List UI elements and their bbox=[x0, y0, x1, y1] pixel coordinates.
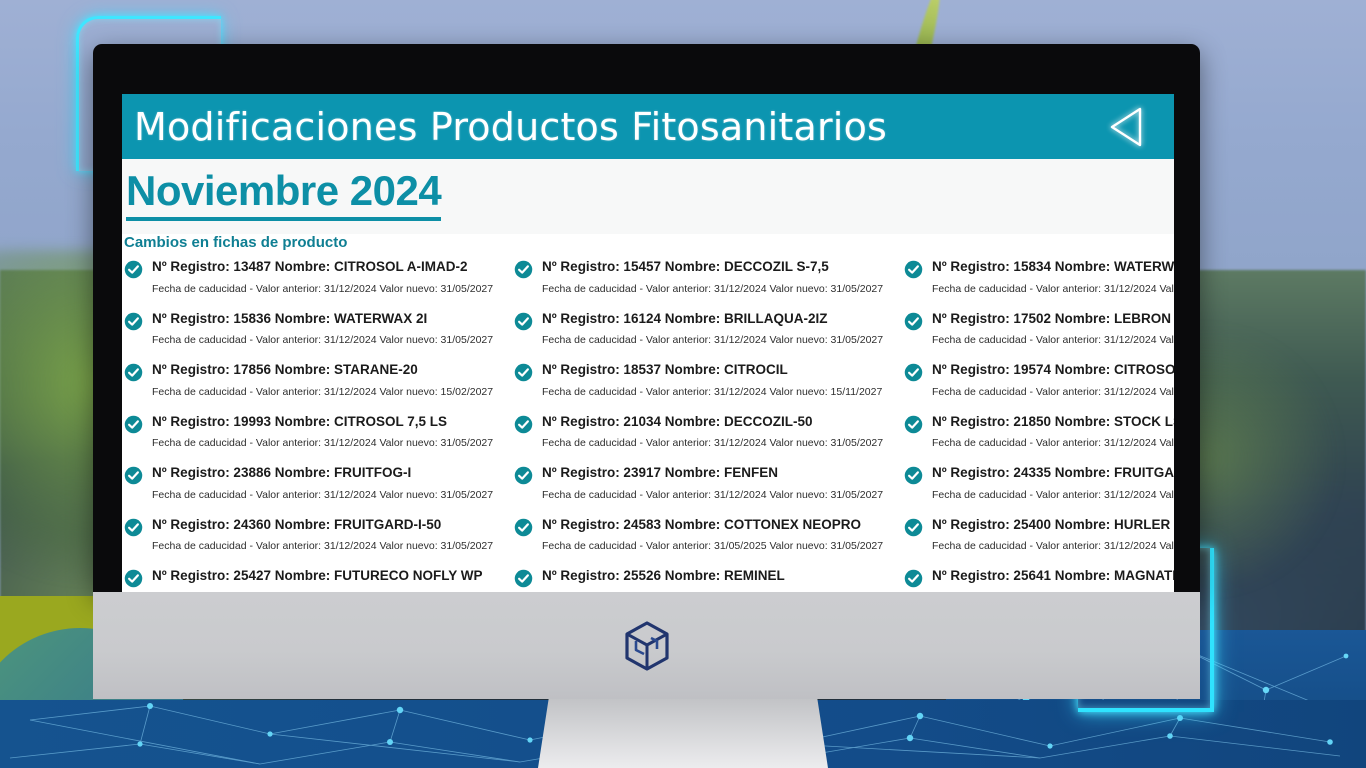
entry-text: Nº Registro: 23886 Nombre: FRUITFOG-IFec… bbox=[152, 465, 493, 501]
entry-title: Nº Registro: 24360 Nombre: FRUITGARD-I-5… bbox=[152, 517, 493, 534]
entry-detail: Fecha de caducidad - Valor anterior: 31/… bbox=[542, 540, 883, 553]
product-change-entry: Nº Registro: 17856 Nombre: STARANE-20Fec… bbox=[124, 360, 514, 412]
entry-detail: Fecha de caducidad - Valor anterior: 31/… bbox=[932, 437, 1174, 450]
entry-detail: Fecha de caducidad - Valor anterior: 31/… bbox=[542, 386, 882, 399]
check-circle-icon bbox=[904, 415, 923, 434]
entry-detail: Fecha de caducidad - Valor anterior: 31/… bbox=[152, 334, 493, 347]
entry-text: Nº Registro: 21850 Nombre: STOCK LSFecha… bbox=[932, 414, 1174, 450]
monitor-bezel: Modificaciones Productos Fitosanitarios … bbox=[93, 44, 1200, 592]
entry-text: Nº Registro: 15834 Nombre: WATERWAX 3IFe… bbox=[932, 259, 1174, 295]
product-change-entry: Nº Registro: 18537 Nombre: CITROCILFecha… bbox=[514, 360, 904, 412]
slide-body: Noviembre 2024 Cambios en fichas de prod… bbox=[122, 159, 1174, 624]
entry-title: Nº Registro: 24335 Nombre: FRUITGARD-IS-… bbox=[932, 465, 1174, 482]
entry-detail: Fecha de caducidad - Valor anterior: 31/… bbox=[932, 283, 1174, 296]
product-change-entry: Nº Registro: 24583 Nombre: COTTONEX NEOP… bbox=[514, 515, 904, 567]
entry-title: Nº Registro: 25427 Nombre: FUTURECO NOFL… bbox=[152, 568, 493, 585]
check-circle-icon bbox=[904, 518, 923, 537]
entry-detail: Fecha de caducidad - Valor anterior: 31/… bbox=[932, 386, 1174, 399]
check-circle-icon bbox=[514, 363, 533, 382]
entry-detail: Fecha de caducidad - Valor anterior: 31/… bbox=[542, 437, 883, 450]
entry-text: Nº Registro: 17502 Nombre: LEBRONFecha d… bbox=[932, 311, 1174, 347]
entry-detail: Fecha de caducidad - Valor anterior: 31/… bbox=[542, 489, 883, 502]
entry-detail: Fecha de caducidad - Valor anterior: 31/… bbox=[152, 437, 493, 450]
entry-text: Nº Registro: 18537 Nombre: CITROCILFecha… bbox=[542, 362, 882, 398]
entry-title: Nº Registro: 25400 Nombre: HURLER 200 bbox=[932, 517, 1174, 534]
entry-title: Nº Registro: 15834 Nombre: WATERWAX 3I bbox=[932, 259, 1174, 276]
product-change-entry: Nº Registro: 23886 Nombre: FRUITFOG-IFec… bbox=[124, 463, 514, 515]
slide-screen: Modificaciones Productos Fitosanitarios … bbox=[122, 94, 1174, 624]
product-change-entry: Nº Registro: 19993 Nombre: CITROSOL 7,5 … bbox=[124, 412, 514, 464]
entry-detail: Fecha de caducidad - Valor anterior: 31/… bbox=[542, 283, 883, 296]
check-circle-icon bbox=[514, 466, 533, 485]
entry-title: Nº Registro: 18537 Nombre: CITROCIL bbox=[542, 362, 882, 379]
entry-text: Nº Registro: 13487 Nombre: CITROSOL A-IM… bbox=[152, 259, 493, 295]
entry-title: Nº Registro: 15836 Nombre: WATERWAX 2I bbox=[152, 311, 493, 328]
product-change-entry: Nº Registro: 21034 Nombre: DECCOZIL-50Fe… bbox=[514, 412, 904, 464]
product-change-entry: Nº Registro: 23917 Nombre: FENFENFecha d… bbox=[514, 463, 904, 515]
product-change-entry: Nº Registro: 19574 Nombre: CITROSOL 500F… bbox=[904, 360, 1174, 412]
slide-header: Modificaciones Productos Fitosanitarios bbox=[122, 94, 1174, 159]
product-changes-grid: Nº Registro: 13487 Nombre: CITROSOL A-IM… bbox=[122, 257, 1174, 618]
product-change-entry: Nº Registro: 15836 Nombre: WATERWAX 2IFe… bbox=[124, 309, 514, 361]
product-change-entry: Nº Registro: 15834 Nombre: WATERWAX 3IFe… bbox=[904, 257, 1174, 309]
entry-text: Nº Registro: 15457 Nombre: DECCOZIL S-7,… bbox=[542, 259, 883, 295]
product-change-entry: Nº Registro: 24360 Nombre: FRUITGARD-I-5… bbox=[124, 515, 514, 567]
entry-text: Nº Registro: 24335 Nombre: FRUITGARD-IS-… bbox=[932, 465, 1174, 501]
entry-text: Nº Registro: 15836 Nombre: WATERWAX 2IFe… bbox=[152, 311, 493, 347]
entry-title: Nº Registro: 25641 Nombre: MAGNATE bbox=[932, 568, 1174, 585]
entry-text: Nº Registro: 17856 Nombre: STARANE-20Fec… bbox=[152, 362, 493, 398]
product-change-entry: Nº Registro: 17502 Nombre: LEBRONFecha d… bbox=[904, 309, 1174, 361]
check-circle-icon bbox=[904, 466, 923, 485]
entry-title: Nº Registro: 19993 Nombre: CITROSOL 7,5 … bbox=[152, 414, 493, 431]
monitor-chin bbox=[93, 592, 1200, 699]
check-circle-icon bbox=[124, 260, 143, 279]
entry-text: Nº Registro: 25400 Nombre: HURLER 200Fec… bbox=[932, 517, 1174, 553]
check-circle-icon bbox=[124, 312, 143, 331]
entry-detail: Fecha de caducidad - Valor anterior: 31/… bbox=[542, 334, 883, 347]
entry-text: Nº Registro: 23917 Nombre: FENFENFecha d… bbox=[542, 465, 883, 501]
entry-title: Nº Registro: 23917 Nombre: FENFEN bbox=[542, 465, 883, 482]
check-circle-icon bbox=[124, 363, 143, 382]
entry-text: Nº Registro: 19574 Nombre: CITROSOL 500F… bbox=[932, 362, 1174, 398]
check-circle-icon bbox=[904, 260, 923, 279]
entry-detail: Fecha de caducidad - Valor anterior: 31/… bbox=[932, 334, 1174, 347]
product-change-entry: Nº Registro: 13487 Nombre: CITROSOL A-IM… bbox=[124, 257, 514, 309]
check-circle-icon bbox=[904, 312, 923, 331]
entry-detail: Fecha de caducidad - Valor anterior: 31/… bbox=[932, 489, 1174, 502]
entry-text: Nº Registro: 16124 Nombre: BRILLAQUA-2IZ… bbox=[542, 311, 883, 347]
entry-detail: Fecha de caducidad - Valor anterior: 31/… bbox=[152, 540, 493, 553]
entry-detail: Fecha de caducidad - Valor anterior: 31/… bbox=[152, 386, 493, 399]
entry-text: Nº Registro: 24583 Nombre: COTTONEX NEOP… bbox=[542, 517, 883, 553]
entry-title: Nº Registro: 24583 Nombre: COTTONEX NEOP… bbox=[542, 517, 883, 534]
product-change-entry: Nº Registro: 15457 Nombre: DECCOZIL S-7,… bbox=[514, 257, 904, 309]
month-title: Noviembre 2024 bbox=[126, 169, 441, 221]
page-title: Modificaciones Productos Fitosanitarios bbox=[134, 105, 887, 149]
entry-title: Nº Registro: 25526 Nombre: REMINEL bbox=[542, 568, 883, 585]
check-circle-icon bbox=[514, 415, 533, 434]
entry-title: Nº Registro: 21850 Nombre: STOCK LS bbox=[932, 414, 1174, 431]
entry-title: Nº Registro: 13487 Nombre: CITROSOL A-IM… bbox=[152, 259, 493, 276]
monitor: Modificaciones Productos Fitosanitarios … bbox=[93, 44, 1200, 699]
product-change-entry: Nº Registro: 21850 Nombre: STOCK LSFecha… bbox=[904, 412, 1174, 464]
section-title: Cambios en fichas de producto bbox=[124, 234, 1174, 251]
check-circle-icon bbox=[514, 260, 533, 279]
entry-title: Nº Registro: 23886 Nombre: FRUITFOG-I bbox=[152, 465, 493, 482]
entry-title: Nº Registro: 17502 Nombre: LEBRON bbox=[932, 311, 1174, 328]
entry-title: Nº Registro: 21034 Nombre: DECCOZIL-50 bbox=[542, 414, 883, 431]
check-circle-icon bbox=[904, 569, 923, 588]
play-back-triangle-icon[interactable] bbox=[1102, 102, 1158, 152]
check-circle-icon bbox=[124, 415, 143, 434]
check-circle-icon bbox=[514, 518, 533, 537]
entry-detail: Fecha de caducidad - Valor anterior: 31/… bbox=[152, 283, 493, 296]
entry-text: Nº Registro: 21034 Nombre: DECCOZIL-50Fe… bbox=[542, 414, 883, 450]
check-circle-icon bbox=[514, 569, 533, 588]
product-change-entry: Nº Registro: 24335 Nombre: FRUITGARD-IS-… bbox=[904, 463, 1174, 515]
entry-title: Nº Registro: 19574 Nombre: CITROSOL 500 bbox=[932, 362, 1174, 379]
entry-detail: Fecha de caducidad - Valor anterior: 31/… bbox=[152, 489, 493, 502]
check-circle-icon bbox=[514, 312, 533, 331]
entry-title: Nº Registro: 17856 Nombre: STARANE-20 bbox=[152, 362, 493, 379]
hexagon-cube-logo-icon bbox=[624, 621, 670, 671]
check-circle-icon bbox=[124, 466, 143, 485]
slide-stage: Modificaciones Productos Fitosanitarios … bbox=[0, 0, 1366, 768]
entry-detail: Fecha de caducidad - Valor anterior: 31/… bbox=[932, 540, 1174, 553]
check-circle-icon bbox=[124, 518, 143, 537]
check-circle-icon bbox=[904, 363, 923, 382]
content-panel: Cambios en fichas de producto Nº Registr… bbox=[122, 234, 1174, 618]
entry-text: Nº Registro: 19993 Nombre: CITROSOL 7,5 … bbox=[152, 414, 493, 450]
check-circle-icon bbox=[124, 569, 143, 588]
entry-title: Nº Registro: 16124 Nombre: BRILLAQUA-2IZ bbox=[542, 311, 883, 328]
product-change-entry: Nº Registro: 25400 Nombre: HURLER 200Fec… bbox=[904, 515, 1174, 567]
product-change-entry: Nº Registro: 16124 Nombre: BRILLAQUA-2IZ… bbox=[514, 309, 904, 361]
month-title-wrap: Noviembre 2024 bbox=[122, 165, 1174, 221]
entry-text: Nº Registro: 24360 Nombre: FRUITGARD-I-5… bbox=[152, 517, 493, 553]
entry-title: Nº Registro: 15457 Nombre: DECCOZIL S-7,… bbox=[542, 259, 883, 276]
